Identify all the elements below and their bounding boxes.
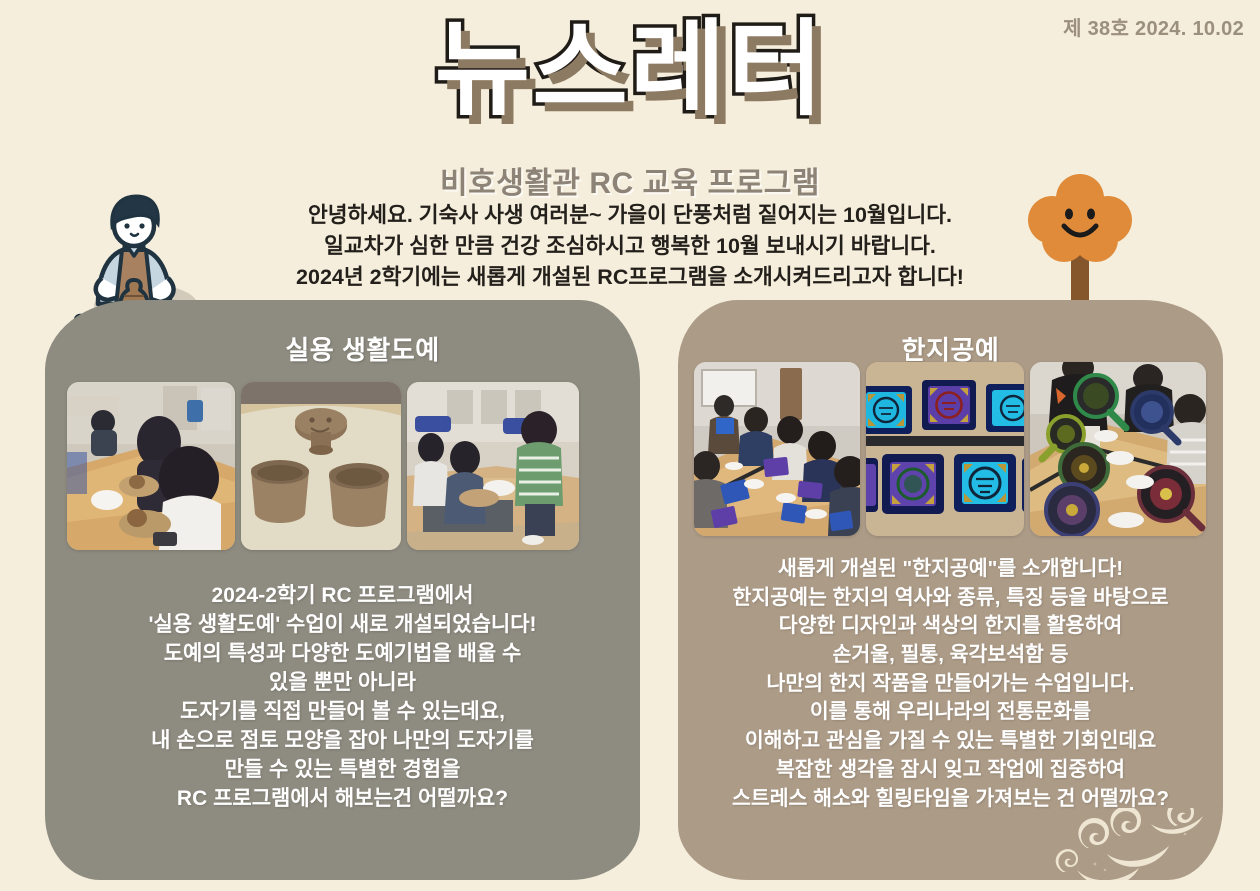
page-title: 뉴스레터 — [0, 16, 1260, 125]
hanji-line-5: 나만의 한지 작품을 만들어가는 수업입니다. — [686, 670, 1215, 699]
card-pottery-photos — [67, 382, 579, 550]
photo-finished-clay-bowls[interactable] — [241, 382, 401, 550]
card-pottery: 실용 생활도예 — [45, 300, 640, 880]
newsletter-page: 제 38호 2024. 10.02 뉴스레터 비호생활관 RC 교육 프로그램 … — [0, 0, 1260, 891]
card-hanji-body: 새롭게 개설된 "한지공예"를 소개합니다! 한지공예는 한지의 역사와 종류,… — [678, 555, 1223, 813]
pottery-line-8: RC 프로그램에서 해보는건 어떨까요? — [63, 785, 622, 814]
hanji-line-3: 다양한 디자인과 색상의 한지를 활용하여 — [686, 612, 1215, 641]
hanji-line-6: 이를 통해 우리나라의 전통문화를 — [686, 698, 1215, 727]
card-pottery-body: 2024-2학기 RC 프로그램에서 '실용 생활도예' 수업이 새로 개설되었… — [45, 582, 640, 814]
photo-hanji-hand-mirrors[interactable] — [1030, 362, 1206, 536]
hanji-line-7: 이해하고 관심을 가질 수 있는 특별한 기회인데요 — [686, 727, 1215, 756]
photo-students-shaping-clay[interactable] — [67, 382, 235, 550]
cloud-swirl-ornament — [1043, 808, 1223, 880]
photo-hanji-class-table[interactable] — [694, 362, 860, 536]
pottery-line-3: 도예의 특성과 다양한 도예기법을 배울 수 — [63, 640, 622, 669]
card-pottery-title: 실용 생활도예 — [45, 330, 640, 367]
pottery-line-6: 내 손으로 점토 모양을 잡아 나만의 도자기를 — [63, 727, 622, 756]
pottery-line-1: 2024-2학기 RC 프로그램에서 — [63, 582, 622, 611]
photo-hanji-square-trays[interactable] — [866, 362, 1024, 536]
card-hanji-photos — [694, 362, 1206, 536]
pottery-line-2: '실용 생활도예' 수업이 새로 개설되었습니다! — [63, 611, 622, 640]
photo-classroom-instructor[interactable] — [407, 382, 579, 550]
card-hanji: 한지공예 — [678, 300, 1223, 880]
hanji-line-2: 한지공예는 한지의 역사와 종류, 특징 등을 바탕으로 — [686, 584, 1215, 613]
hanji-line-4: 손거울, 필통, 육각보석함 등 — [686, 641, 1215, 670]
hanji-line-8: 복잡한 생각을 잠시 잊고 작업에 집중하여 — [686, 756, 1215, 785]
tree-illustration — [1022, 168, 1138, 310]
pottery-line-4: 있을 뿐만 아니라 — [63, 669, 622, 698]
pottery-line-7: 만들 수 있는 특별한 경험을 — [63, 756, 622, 785]
pottery-line-5: 도자기를 직접 만들어 볼 수 있는데요, — [63, 698, 622, 727]
hanji-line-1: 새롭게 개설된 "한지공예"를 소개합니다! — [686, 555, 1215, 584]
